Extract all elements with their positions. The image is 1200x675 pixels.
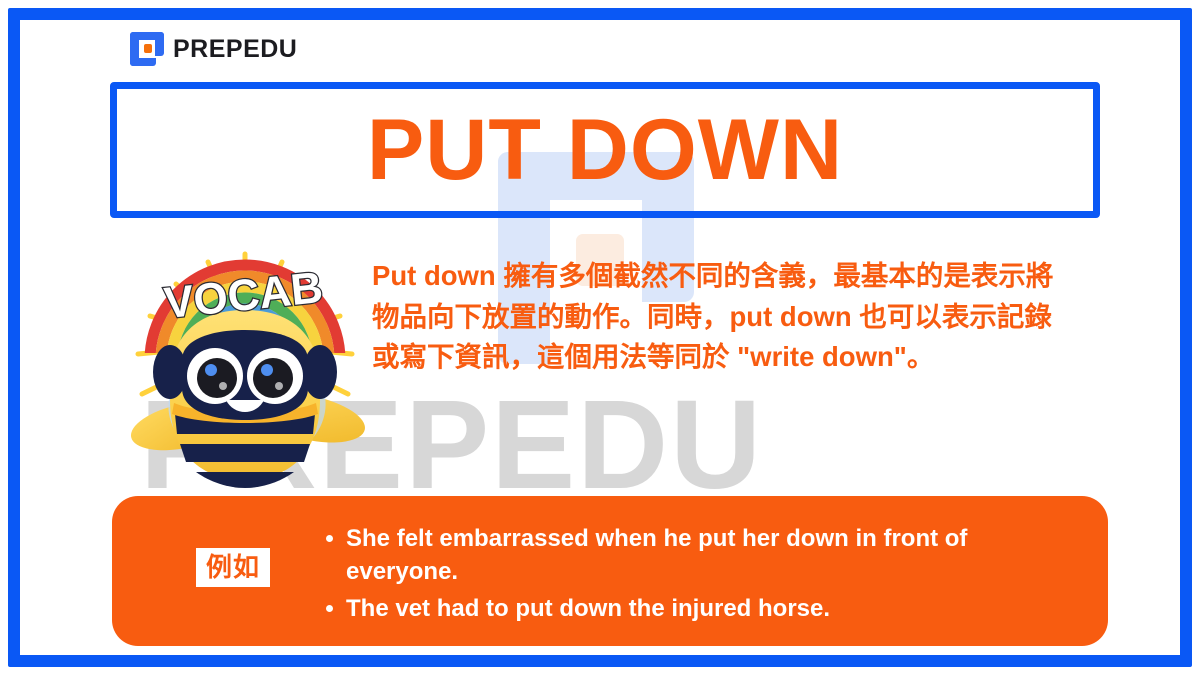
vocab-bee-mascot: VOCAB [122,248,368,494]
page-title: PUT DOWN [367,107,843,193]
mascot-ear-right [303,345,337,399]
logo-right-bar [155,32,164,56]
mascot-stripes [175,414,315,488]
list-item: She felt embarrassed when he put her dow… [326,522,1082,588]
examples-panel: 例如 She felt embarrassed when he put her … [112,496,1108,646]
brand-logo[interactable]: PREPEDU [130,32,297,66]
mascot-illustration: VOCAB [122,248,368,494]
title-box: PUT DOWN [110,82,1100,218]
examples-badge: 例如 [196,548,270,587]
brand-name: PREPEDU [173,35,297,64]
slide-root: PREPEDU PREPEDU PUT DOWN [0,0,1200,675]
definition-text: Put down 擁有多個截然不同的含義，最基本的是表示將物品向下放置的動作。同… [372,256,1076,378]
mascot-ear-left [153,345,187,399]
prepedu-logo-icon [130,32,164,66]
list-item: The vet had to put down the injured hors… [326,592,1082,625]
logo-bottom-bar [130,58,156,66]
examples-list: She felt embarrassed when he put her dow… [270,522,1082,629]
logo-orange-dot-icon [144,44,152,53]
